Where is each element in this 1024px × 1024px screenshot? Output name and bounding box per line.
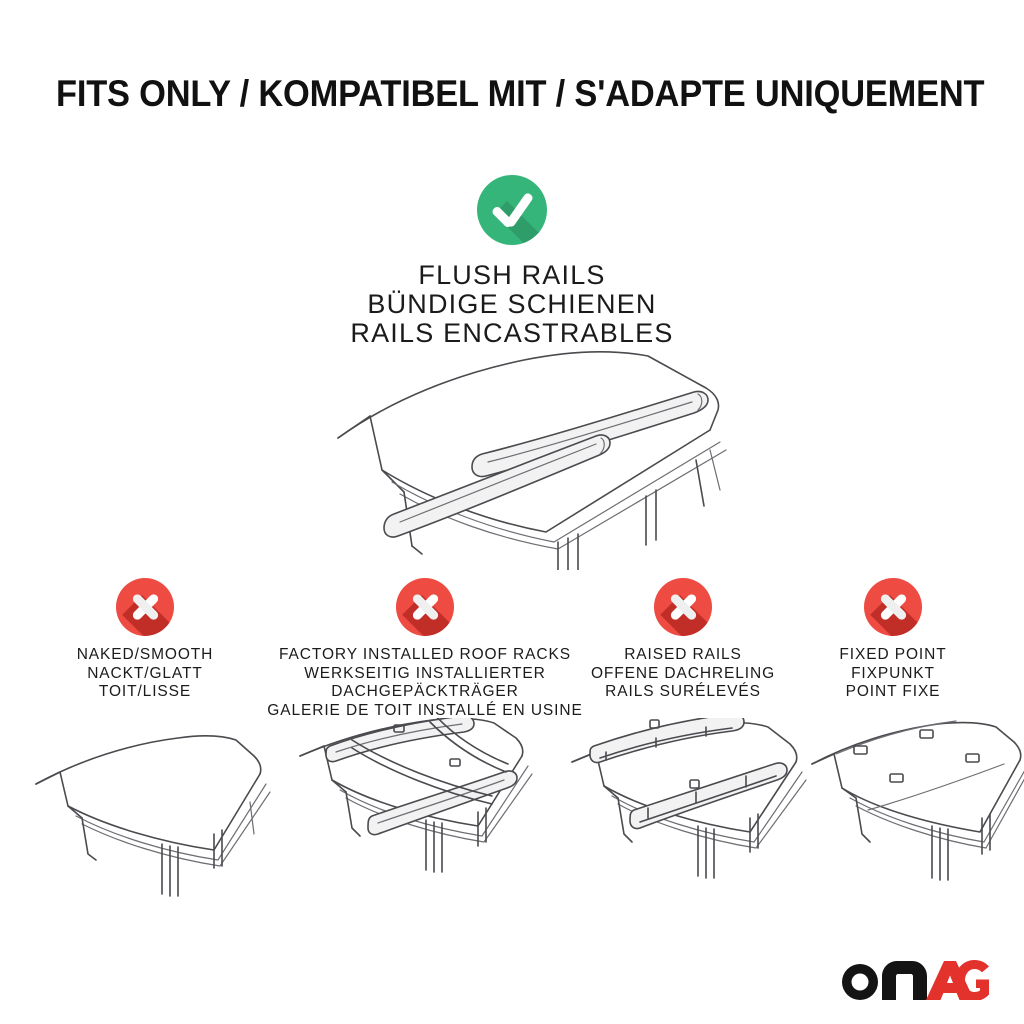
omac-logo <box>840 960 990 1000</box>
compatible-section: FLUSH RAILS BÜNDIGE SCHIENEN RAILS ENCAS… <box>0 175 1024 348</box>
label-line-de-2: DACHGEPÄCKTRÄGER <box>265 683 585 702</box>
car-roof-raised-rails-illustration <box>560 718 840 923</box>
fitment-infographic: FITS ONLY / KOMPATIBEL MIT / S'ADAPTE UN… <box>0 0 1024 1024</box>
incompatible-labels: RAISED RAILS OFFENE DACHRELING RAILS SUR… <box>573 646 793 702</box>
incompatible-labels: NAKED/SMOOTH NACKT/GLATT TOIT/LISSE <box>25 646 265 702</box>
incompatible-item-raised-rails: RAISED RAILS OFFENE DACHRELING RAILS SUR… <box>573 578 793 702</box>
car-roof-naked-smooth-illustration <box>10 718 280 923</box>
label-line-fr: POINT FIXE <box>793 683 993 702</box>
label-line-fr: RAILS SURÉLEVÉS <box>573 683 793 702</box>
car-roof-fixed-point-illustration <box>806 718 1024 923</box>
compatible-label-en: FLUSH RAILS <box>0 261 1024 290</box>
car-roof-with-flush-rails-illustration <box>296 330 746 570</box>
page-title: FITS ONLY / KOMPATIBEL MIT / S'ADAPTE UN… <box>56 72 930 116</box>
red-x-icon <box>396 578 454 636</box>
incompatible-item-naked-smooth: NAKED/SMOOTH NACKT/GLATT TOIT/LISSE <box>25 578 265 702</box>
label-line-de: OFFENE DACHRELING <box>573 665 793 684</box>
incompatible-labels: FACTORY INSTALLED ROOF RACKS WERKSEITIG … <box>265 646 585 720</box>
incompatible-labels: FIXED POINT FIXPUNKT POINT FIXE <box>793 646 993 702</box>
label-line-de: FIXPUNKT <box>793 665 993 684</box>
label-line-fr: TOIT/LISSE <box>25 683 265 702</box>
label-line-en: RAISED RAILS <box>573 646 793 665</box>
green-check-icon <box>477 175 547 245</box>
incompatible-item-fixed-point: FIXED POINT FIXPUNKT POINT FIXE <box>793 578 993 702</box>
incompatible-item-factory-installed-roof-racks: FACTORY INSTALLED ROOF RACKS WERKSEITIG … <box>265 578 585 720</box>
red-x-icon <box>654 578 712 636</box>
label-line-en: FIXED POINT <box>793 646 993 665</box>
label-line-de: NACKT/GLATT <box>25 665 265 684</box>
omac-logo-mark <box>840 958 990 1000</box>
car-roof-factory-racks-illustration <box>286 718 566 923</box>
red-x-icon <box>864 578 922 636</box>
red-x-icon <box>116 578 174 636</box>
incompatible-illustrations <box>0 718 1024 918</box>
label-line-en: NAKED/SMOOTH <box>25 646 265 665</box>
compatible-label-de: BÜNDIGE SCHIENEN <box>0 290 1024 319</box>
label-line-de-1: WERKSEITIG INSTALLIERTER <box>265 665 585 684</box>
label-line-en: FACTORY INSTALLED ROOF RACKS <box>265 646 585 665</box>
